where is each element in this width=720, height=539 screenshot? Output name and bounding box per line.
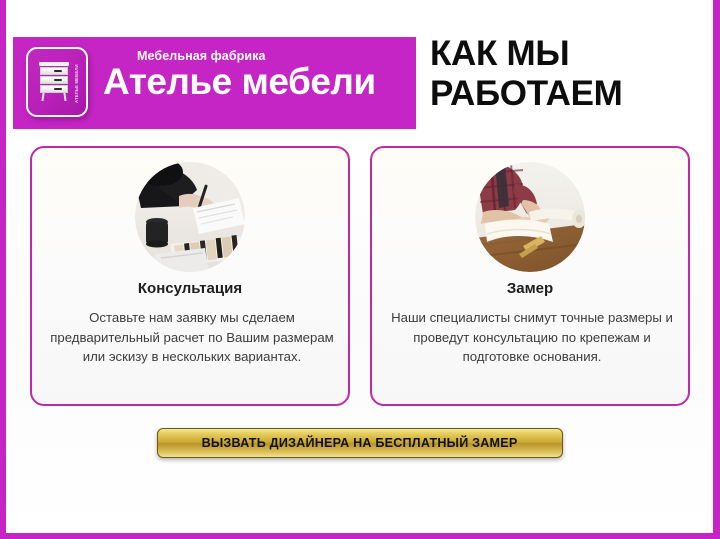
cta-area: ВЫЗВАТЬ ДИЗАЙНЕРА НА БЕСПЛАТНЫЙ ЗАМЕР bbox=[6, 428, 713, 468]
poster-inner: АТЕЛЬЕ МЕБЕЛИ Мебельная фабрика Ателье м… bbox=[6, 0, 713, 533]
card-measurement: Замер Наши специалисты снимут точные раз… bbox=[370, 146, 690, 406]
card-title-consultation: Консультация bbox=[32, 280, 348, 297]
consultation-photo bbox=[135, 162, 245, 272]
dresser-icon bbox=[39, 62, 69, 102]
logo-badge-vertical-text: АТЕЛЬЕ МЕБЕЛИ bbox=[72, 57, 82, 111]
card-consultation: Консультация Оставьте нам заявку мы сдел… bbox=[30, 146, 350, 406]
avito-watermark-label: Avito bbox=[645, 494, 695, 515]
card-text-consultation: Оставьте нам заявку мы сделаем предварит… bbox=[44, 308, 340, 367]
frame-left-border bbox=[0, 0, 6, 539]
frame-right-border bbox=[713, 0, 720, 539]
cards-row: Консультация Оставьте нам заявку мы сдел… bbox=[6, 146, 713, 410]
page-title-line-2: РАБОТАЕМ bbox=[430, 74, 710, 114]
logo-badge: АТЕЛЬЕ МЕБЕЛИ bbox=[26, 47, 88, 117]
avito-logo-icon bbox=[621, 496, 641, 514]
poster-canvas: АТЕЛЬЕ МЕБЕЛИ Мебельная фабрика Ателье м… bbox=[0, 0, 720, 539]
page-title-line-1: КАК МЫ bbox=[430, 34, 710, 74]
measurement-photo bbox=[475, 162, 585, 272]
frame-bottom-border bbox=[0, 533, 720, 539]
card-text-measurement: Наши специалисты снимут точные размеры и… bbox=[384, 308, 680, 367]
avito-watermark: Avito bbox=[621, 494, 695, 515]
card-title-measurement: Замер bbox=[372, 280, 688, 297]
call-designer-button-label: ВЫЗВАТЬ ДИЗАЙНЕРА НА БЕСПЛАТНЫЙ ЗАМЕР bbox=[202, 436, 518, 450]
page-title: КАК МЫ РАБОТАЕМ bbox=[430, 34, 710, 114]
brand-title: Ателье мебели bbox=[103, 60, 376, 104]
call-designer-button[interactable]: ВЫЗВАТЬ ДИЗАЙНЕРА НА БЕСПЛАТНЫЙ ЗАМЕР bbox=[157, 428, 563, 458]
logo-block: АТЕЛЬЕ МЕБЕЛИ Мебельная фабрика Ателье м… bbox=[13, 37, 416, 129]
header: АТЕЛЬЕ МЕБЕЛИ Мебельная фабрика Ателье м… bbox=[6, 37, 713, 129]
